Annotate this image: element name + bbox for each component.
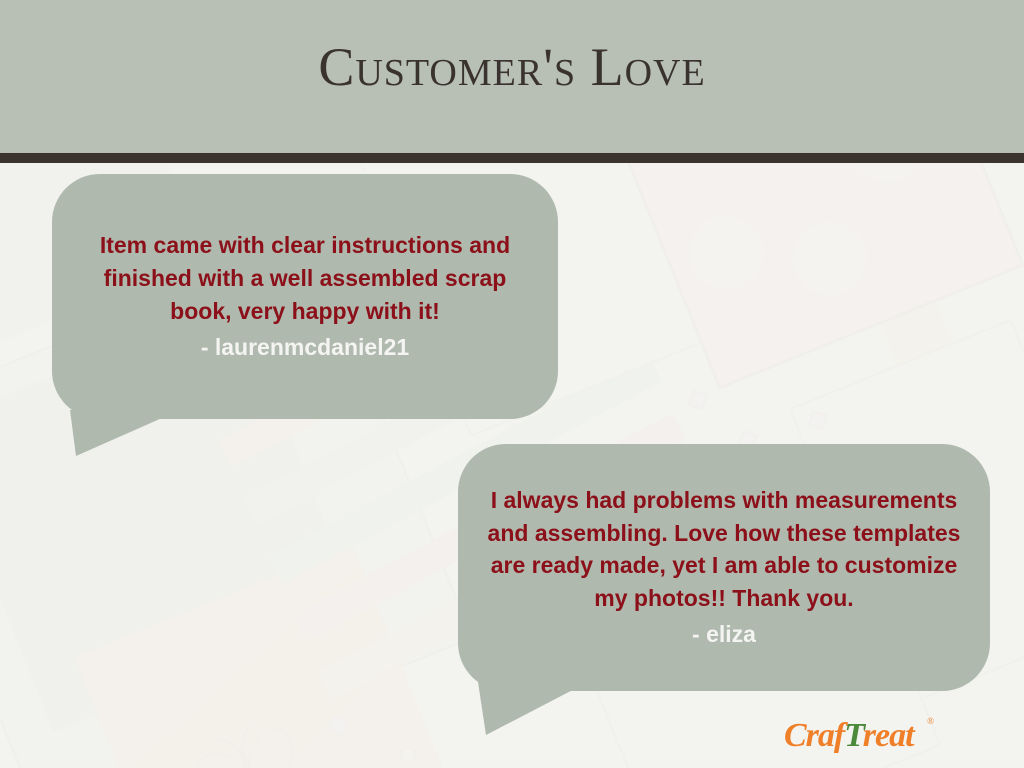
craftreat-logo: CrafTreat ®	[784, 714, 930, 758]
slide-canvas: Customer's Love Item came with clear ins…	[0, 0, 1024, 768]
testimonial-bubble-2: I always had problems with measurements …	[458, 444, 990, 691]
testimonial-quote: I always had problems with measurements …	[459, 484, 989, 615]
page-title: Customer's Love	[0, 40, 1024, 94]
craftreat-logo-text: CrafTreat	[784, 714, 930, 758]
registered-trademark-icon: ®	[927, 716, 934, 726]
testimonial-author: - laurenmcdaniel21	[201, 331, 409, 364]
testimonial-bubble-1: Item came with clear instructions and fi…	[52, 174, 558, 419]
testimonial-quote: Item came with clear instructions and fi…	[55, 229, 555, 327]
logo-part-reat: reat	[863, 717, 914, 754]
bg-confetti	[688, 390, 709, 411]
testimonial-author: - eliza	[692, 618, 756, 651]
header-divider-rule	[0, 153, 1024, 163]
logo-part-craf: Craf	[784, 717, 844, 754]
testimonial-bubble-1-tail	[70, 410, 180, 458]
logo-part-t: T	[844, 717, 863, 754]
testimonial-bubble-2-tail	[478, 682, 588, 737]
butterfly-icon	[175, 701, 320, 768]
header-band: Customer's Love	[0, 0, 1024, 153]
